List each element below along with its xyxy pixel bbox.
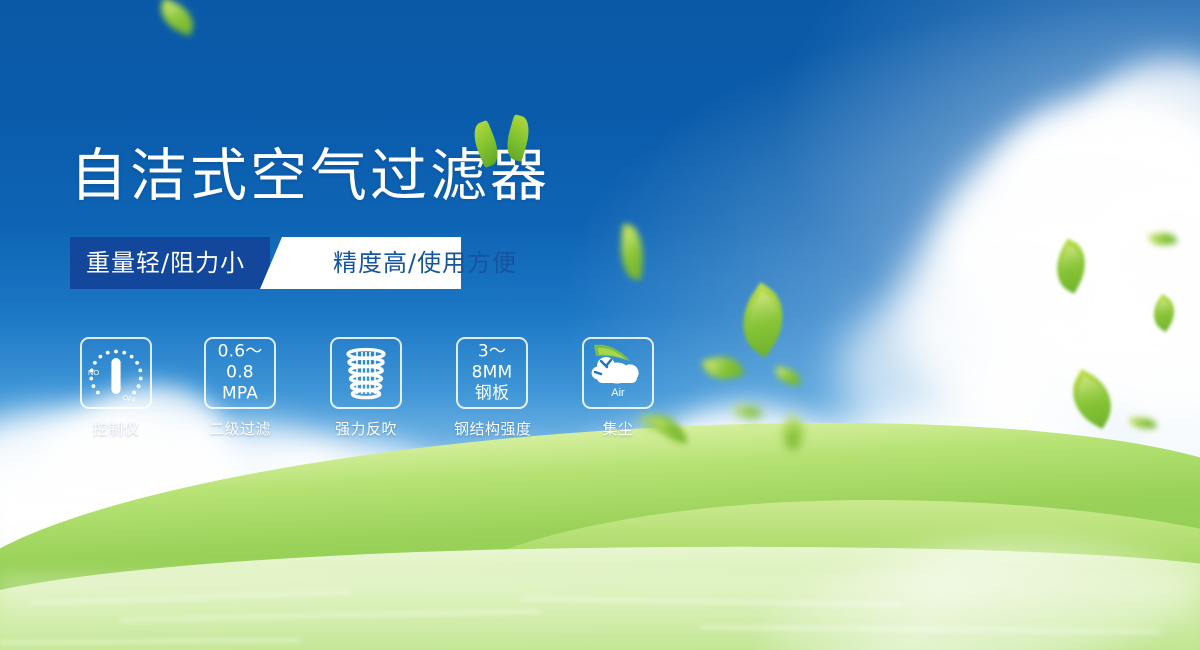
feature-icon-box: 3～8MM 钢板 [456, 337, 528, 409]
dial-off-label: OFF [121, 394, 136, 405]
dial-gauge-icon: NO OFF [82, 339, 150, 407]
steel-plate-text-icon: 3～8MM 钢板 [458, 342, 526, 405]
feature-item-dust-collection[interactable]: Air 集尘 [580, 337, 656, 439]
feature-label: 强力反吹 [328, 418, 404, 439]
feature-item-steel-structure[interactable]: 3～8MM 钢板 钢结构强度 [454, 337, 530, 439]
feature-icon-box: Air [582, 337, 654, 409]
feature-label: 二级过滤 [202, 418, 278, 439]
feature-label: 集尘 [580, 418, 656, 439]
filter-cartridge-icon [332, 339, 400, 407]
dial-on-label: NO [88, 368, 99, 377]
feature-item-controller[interactable]: NO OFF 控制仪 [78, 337, 154, 439]
grass-field [0, 0, 1200, 650]
pressure-text-icon: 0.6～0.8 MPA [206, 342, 274, 405]
product-banner: 自洁式空气过滤器 重量轻/阻力小 精度高/使用方便 [0, 0, 1200, 650]
feature-icon-box: NO OFF [80, 337, 152, 409]
subtitle-bar: 重量轻/阻力小 精度高/使用方便 [70, 237, 461, 289]
pressure-unit: MPA [206, 384, 274, 405]
feature-label: 控制仪 [78, 418, 154, 439]
pressure-range: 0.6～0.8 [206, 342, 274, 384]
feature-icon-box [330, 337, 402, 409]
steel-thickness: 3～8MM [458, 342, 526, 384]
steel-material: 钢板 [458, 384, 526, 405]
air-cloud-icon: Air [584, 339, 652, 407]
feature-label: 钢结构强度 [454, 418, 530, 439]
feature-item-strong-backflush[interactable]: 强力反吹 [328, 337, 404, 439]
feature-list: NO OFF 控制仪 0.6～0.8 MPA 二级过滤 [70, 337, 710, 447]
air-label: Air [611, 387, 625, 399]
feature-item-two-stage-filter[interactable]: 0.6～0.8 MPA 二级过滤 [202, 337, 278, 439]
subtitle-left-text: 重量轻/阻力小 [86, 237, 245, 289]
feature-icon-box: 0.6～0.8 MPA [204, 337, 276, 409]
subtitle-right-text: 精度高/使用方便 [333, 237, 517, 289]
